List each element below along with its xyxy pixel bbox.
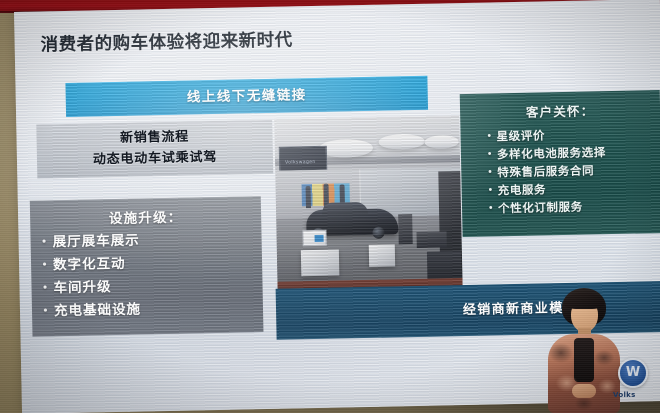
photo-dark-furniture [427, 251, 462, 282]
list-item-label: 展厅展车展示 [52, 230, 139, 255]
facility-content: 设施升级： •展厅展车展示 •数字化互动 •车间升级 •充电基础设施 [30, 196, 263, 324]
presenter-fringe [564, 293, 604, 309]
volkswagen-logo-icon: W [618, 358, 648, 388]
list-item: •充电基础设施 [38, 296, 263, 324]
customer-care-list: •星级评价 •多样化电池服务选择 •特殊售后服务合同 •充电服务 •个性化订制服… [460, 124, 660, 218]
list-item: •个性化订制服务 [484, 196, 660, 218]
panel-customer-care: 客户关怀： •星级评价 •多样化电池服务选择 •特殊售后服务合同 •充电服务 •… [460, 90, 660, 237]
bullet-icon: • [38, 300, 54, 323]
bullet-icon: • [483, 163, 497, 181]
photo-scene: 消费者的购车体验将迎来新时代 线上线下无缝链接 新销售流程 动态电动车试乘试驾 … [0, 0, 660, 413]
photo-info-placard [302, 230, 326, 246]
list-item-label: 数字化互动 [53, 253, 126, 277]
sales-process-line2: 动态电动车试乘试驾 [37, 146, 273, 172]
photo-visitor-figure [306, 186, 311, 208]
list-item-label: 星级评价 [496, 126, 545, 145]
presenter-jacket-pattern [548, 334, 620, 413]
logo-wordmark: Volks [613, 391, 636, 399]
placard-swatch-icon [315, 235, 324, 242]
sales-process-text: 新销售流程 动态电动车试乘试驾 [36, 120, 273, 172]
bullet-icon: • [37, 277, 53, 300]
list-item-label: 多样化电池服务选择 [497, 143, 606, 163]
list-item-label: 充电基础设施 [54, 299, 141, 324]
facility-list: •展厅展车展示 •数字化互动 •车间升级 •充电基础设施 [30, 227, 263, 324]
panel-sales-process: 新销售流程 动态电动车试乘试驾 [36, 120, 273, 179]
bullet-icon: • [483, 145, 497, 163]
banner-label: 线上线下无缝链接 [65, 76, 428, 117]
presenter-jacket [548, 334, 620, 413]
customer-care-heading: 客户关怀： [460, 99, 660, 122]
presenter-hands [572, 384, 596, 398]
panel-facility-upgrade: 设施升级： •展厅展车展示 •数字化互动 •车间升级 •充电基础设施 [30, 196, 264, 337]
bullet-icon: • [484, 199, 498, 217]
panel-online-offline-link: 线上线下无缝链接 [65, 76, 428, 117]
list-item-label: 特殊售后服务合同 [497, 161, 594, 181]
photo-white-seat-cube [301, 250, 340, 277]
photo-white-seat-cube [369, 244, 395, 267]
photo-dark-furniture [398, 214, 413, 244]
showroom-photo: Volkswagen [274, 115, 462, 291]
list-item-label: 个性化订制服务 [498, 198, 583, 218]
list-item-label: 充电服务 [497, 180, 546, 199]
showroom-display-screen: Volkswagen [279, 146, 327, 172]
facility-heading: 设施升级： [30, 204, 261, 229]
page-title: 消费者的购车体验将迎来新时代 [40, 26, 292, 56]
bullet-icon: • [37, 254, 53, 277]
bullet-icon: • [482, 127, 496, 145]
list-item-label: 车间升级 [53, 276, 111, 300]
showroom-brand-text: Volkswagen [285, 160, 316, 166]
bullet-icon: • [36, 231, 52, 254]
bullet-icon: • [483, 181, 497, 199]
photo-dark-furniture [416, 231, 446, 248]
logo-mark: W [620, 364, 646, 382]
customer-care-content: 客户关怀： •星级评价 •多样化电池服务选择 •特殊售后服务合同 •充电服务 •… [460, 90, 660, 218]
